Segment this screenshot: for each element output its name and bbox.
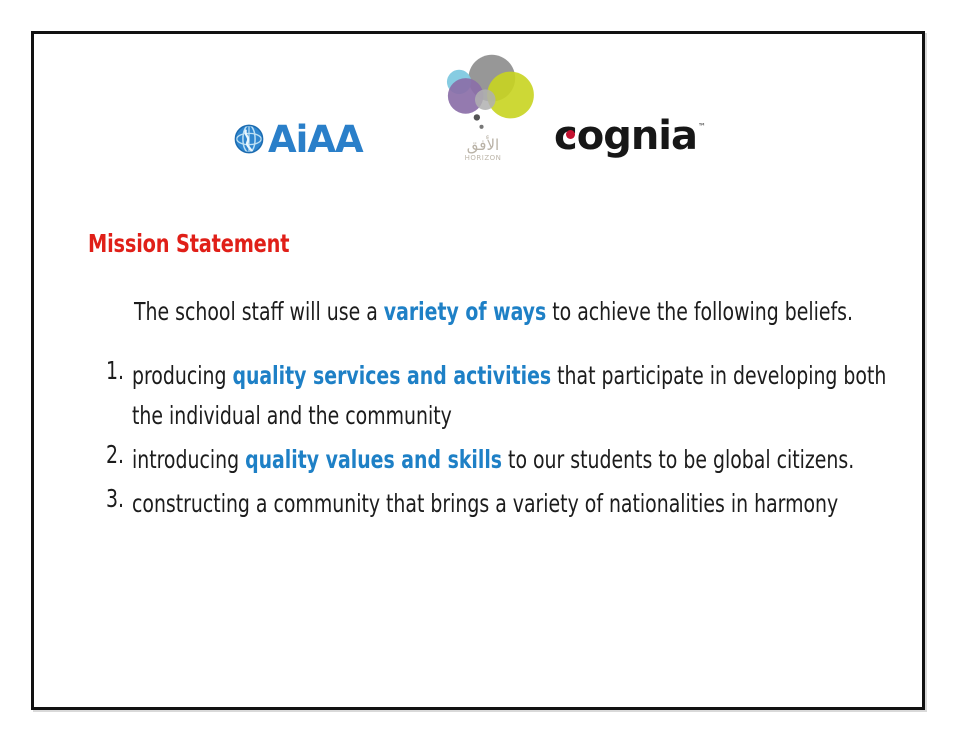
cognia-logo: cognia ™ [554, 116, 706, 156]
list-item-text-after: to our students to be global citizens. [502, 445, 854, 474]
list-item-text-before: producing [132, 361, 232, 390]
cognia-wordmark-text: cognia [554, 113, 697, 159]
horizon-arabic-wordmark: الأفق [448, 138, 518, 153]
list-item-highlight: quality values and skills [245, 445, 502, 474]
aiaa-wordmark: AiAA [268, 121, 363, 158]
list-item-number: 1. [106, 356, 126, 385]
logo-row: AiAA الأفق HORIZON [34, 34, 928, 184]
list-item-number: 3. [106, 484, 126, 513]
beliefs-list: 1. producing quality services and activi… [106, 356, 926, 528]
intro-text-after: to achieve the following beliefs. [546, 297, 853, 326]
aiaa-logo: AiAA [234, 120, 363, 157]
list-item-text: constructing a community that brings a v… [132, 484, 799, 524]
overlapping-circles-icon [434, 52, 544, 138]
list-item-text: producing quality services and activitie… [132, 356, 922, 436]
slide-canvas: AiAA الأفق HORIZON [0, 0, 960, 742]
intro-highlight: variety of ways [384, 297, 546, 326]
globe-icon [234, 124, 264, 154]
list-item: 3. constructing a community that brings … [106, 484, 926, 524]
horizon-logo: الأفق HORIZON [434, 52, 544, 172]
cognia-red-dot-icon [566, 130, 575, 139]
slide-frame: AiAA الأفق HORIZON [31, 31, 925, 710]
horizon-english-wordmark: HORIZON [448, 155, 518, 162]
list-item: 2. introducing quality values and skills… [106, 440, 926, 480]
trademark-symbol: ™ [698, 122, 706, 131]
cognia-wordmark: cognia [554, 116, 697, 156]
list-item-text-before: introducing [132, 445, 245, 474]
intro-text-before: The school staff will use a [134, 297, 384, 326]
list-item-highlight: quality services and activities [232, 361, 551, 390]
list-item: 1. producing quality services and activi… [106, 356, 926, 436]
list-item-text-before: constructing a community that brings a v… [132, 489, 838, 518]
intro-paragraph: The school staff will use a variety of w… [134, 297, 853, 326]
list-item-text: introducing quality values and skills to… [132, 440, 799, 480]
page-title: Mission Statement [88, 229, 289, 258]
list-item-number: 2. [106, 440, 126, 469]
